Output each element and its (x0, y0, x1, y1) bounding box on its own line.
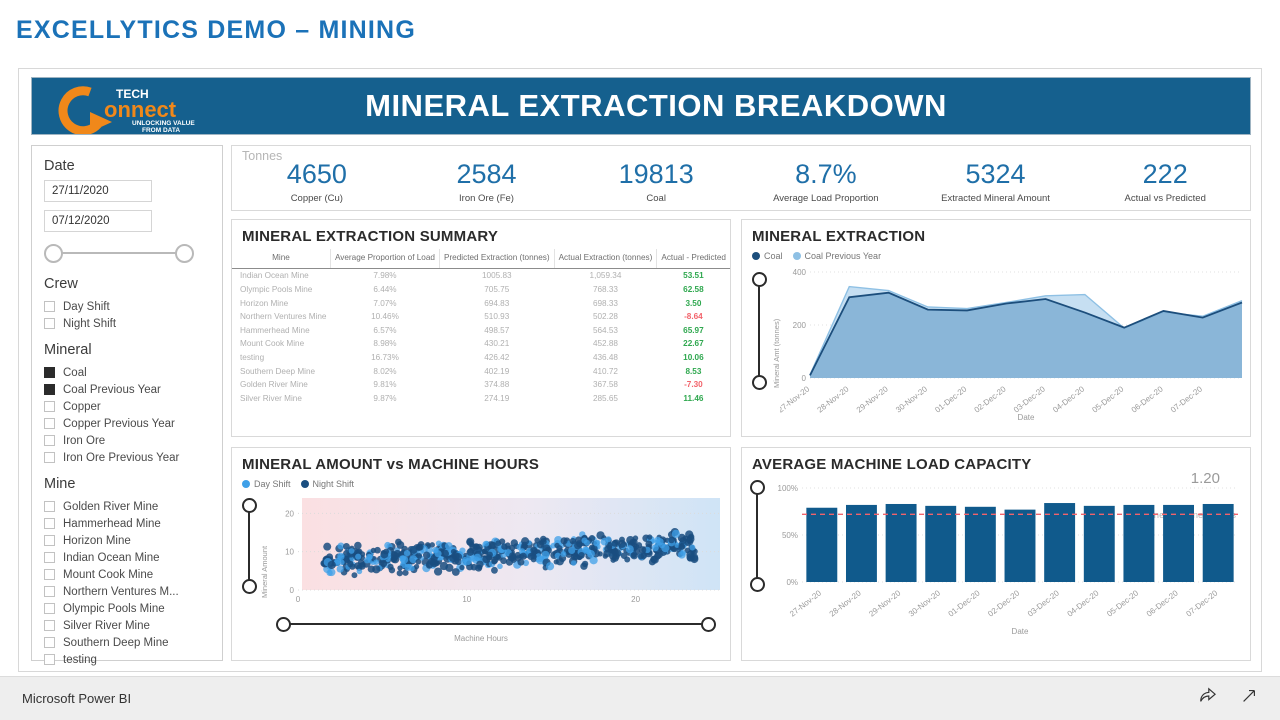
kpi-label: Iron Ore (Fe) (459, 193, 514, 204)
table-row[interactable]: Southern Deep Mine8.02%402.19410.728.53 (232, 364, 730, 378)
table-cell-actual: 1,059.34 (554, 269, 657, 283)
page-title: EXCELLYTICS DEMO – MINING (16, 16, 416, 45)
table-cell-mine: Hammerhead Mine (232, 323, 330, 337)
svg-text:03-Dec-20: 03-Dec-20 (1012, 384, 1047, 414)
mine-filter-checkbox[interactable] (44, 654, 55, 665)
crew-filter-option[interactable]: Day Shift (44, 298, 210, 315)
svg-text:02-Dec-20: 02-Dec-20 (986, 588, 1021, 618)
svg-text:03-Dec-20: 03-Dec-20 (1026, 588, 1061, 618)
kpi-label: Copper (Cu) (291, 193, 343, 204)
mine-filter-checkbox[interactable] (44, 620, 55, 631)
area-chart-plot: 020040027-Nov-2028-Nov-2029-Nov-2030-Nov… (780, 266, 1248, 424)
mineral-filter-label: Iron Ore (63, 435, 105, 447)
svg-text:10: 10 (285, 548, 294, 557)
mine-filter-label: Olympic Pools Mine (63, 603, 165, 615)
area-chart-legend: Coal Coal Previous Year (742, 249, 1250, 261)
table-row[interactable]: Mount Cook Mine8.98%430.21452.8822.67 (232, 337, 730, 351)
table-cell-delta: 11.46 (657, 391, 730, 405)
table-cell-predicted: 498.57 (439, 323, 554, 337)
crew-filter-label: Night Shift (63, 318, 116, 330)
svg-text:20: 20 (631, 595, 640, 604)
kpi-value: 19813 (619, 160, 694, 188)
scatter-horizontal-slider[interactable] (276, 614, 716, 634)
svg-text:0: 0 (290, 586, 295, 595)
mine-filter-checkbox[interactable] (44, 569, 55, 580)
mine-filter-label: Southern Deep Mine (63, 637, 168, 649)
svg-text:0%: 0% (786, 578, 798, 587)
kpi-label: Extracted Mineral Amount (941, 193, 1050, 204)
table-cell-mine: Olympic Pools Mine (232, 283, 330, 297)
scatter-vertical-slider[interactable] (238, 498, 260, 594)
table-cell-delta: -8.64 (657, 310, 730, 324)
summary-table: MineAverage Proportion of LoadPredicted … (232, 249, 730, 405)
report-canvas: TECH onnect UNLOCKING VALUE FROM DATA MI… (18, 68, 1262, 672)
mine-filter-heading: Mine (44, 476, 210, 492)
table-cell-predicted: 426.42 (439, 351, 554, 365)
scatter-vslider-track (248, 507, 250, 585)
area-chart-vertical-slider[interactable] (748, 272, 770, 390)
svg-text:10: 10 (462, 595, 471, 604)
svg-text:01-Dec-20: 01-Dec-20 (947, 588, 982, 618)
summary-column-header[interactable]: Average Proportion of Load (330, 249, 439, 269)
svg-text:200: 200 (793, 321, 807, 330)
svg-text:28-Nov-20: 28-Nov-20 (828, 588, 863, 618)
crew-filter-label: Day Shift (63, 301, 110, 313)
crew-filter-checkbox[interactable] (44, 318, 55, 329)
area-chart-title: MINERAL EXTRACTION (742, 220, 1250, 249)
mine-filter-label: Golden River Mine (63, 501, 158, 513)
table-row[interactable]: Northern Ventures Mine10.46%510.93502.28… (232, 310, 730, 324)
svg-text:30-Nov-20: 30-Nov-20 (907, 588, 942, 618)
table-cell-delta: 53.51 (657, 269, 730, 283)
area-vslider-track (758, 281, 760, 381)
summary-column-header[interactable]: Predicted Extraction (tonnes) (439, 249, 554, 269)
kpi-label: Actual vs Predicted (1125, 193, 1206, 204)
legend-swatch-coal-previous-year (793, 252, 801, 260)
svg-text:0: 0 (296, 595, 301, 604)
table-cell-actual: 367.58 (554, 378, 657, 392)
bar-vslider-track (756, 489, 758, 583)
fullscreen-icon[interactable] (1240, 687, 1258, 710)
mine-filter-option[interactable]: Hammerhead Mine (44, 515, 210, 532)
mine-filter-option[interactable]: Olympic Pools Mine (44, 600, 210, 617)
table-cell-proportion: 7.07% (330, 296, 439, 310)
mine-filter-option[interactable]: Silver River Mine (44, 617, 210, 634)
mine-filter-checkbox[interactable] (44, 586, 55, 597)
mine-filter-option[interactable]: Golden River Mine (44, 498, 210, 515)
summary-column-header[interactable]: Actual - Predicted (657, 249, 730, 269)
svg-text:04-Dec-20: 04-Dec-20 (1051, 384, 1086, 414)
techconnect-logo: TECH onnect UNLOCKING VALUE FROM DATA (32, 78, 212, 134)
mine-filter-option[interactable]: Indian Ocean Mine (44, 549, 210, 566)
mineral-filter-label: Iron Ore Previous Year (63, 452, 179, 464)
date-from-input[interactable]: 27/11/2020 (44, 180, 152, 202)
legend-item-coal[interactable]: Coal (752, 251, 783, 261)
legend-item-coal-previous-year[interactable]: Coal Previous Year (793, 251, 882, 261)
crew-filter-checkbox[interactable] (44, 301, 55, 312)
mine-filter-label: Northern Ventures M... (63, 586, 179, 598)
report-header-title: MINERAL EXTRACTION BREAKDOWN (212, 88, 1250, 124)
bar-vslider-handle-bottom[interactable] (750, 577, 765, 592)
table-cell-actual: 285.65 (554, 391, 657, 405)
legend-swatch-night-shift (301, 480, 309, 488)
bar-chart-vertical-slider[interactable] (746, 480, 768, 592)
avg-machine-load-card: AVERAGE MACHINE LOAD CAPACITY 1.20 Miner… (741, 447, 1251, 661)
table-cell-mine: Southern Deep Mine (232, 364, 330, 378)
kpi-label: Coal (646, 193, 666, 204)
svg-text:28-Nov-20: 28-Nov-20 (816, 384, 851, 414)
svg-text:400: 400 (793, 268, 807, 277)
svg-text:100%: 100% (778, 484, 798, 493)
svg-text:02-Dec-20: 02-Dec-20 (973, 384, 1008, 414)
kpi-value: 8.7% (795, 160, 857, 188)
scatter-xlabel: Machine Hours (232, 634, 730, 643)
table-cell-proportion: 10.46% (330, 310, 439, 324)
legend-label-night-shift: Night Shift (313, 479, 355, 489)
table-row[interactable]: Silver River Mine9.87%274.19285.6511.46 (232, 391, 730, 405)
kpi-card: 222Actual vs Predicted (1080, 146, 1250, 210)
table-row[interactable]: Indian Ocean Mine7.98%1005.831,059.3453.… (232, 269, 730, 283)
table-cell-delta: 8.53 (657, 364, 730, 378)
area-vslider-handle-bottom[interactable] (752, 375, 767, 390)
date-to-input[interactable]: 07/12/2020 (44, 210, 152, 232)
mineral-vs-hours-card: MINERAL AMOUNT vs MACHINE HOURS Day Shif… (231, 447, 731, 661)
svg-text:UNLOCKING VALUE: UNLOCKING VALUE (132, 120, 195, 127)
table-cell-proportion: 8.98% (330, 337, 439, 351)
mineral-filter-checkbox[interactable] (44, 418, 55, 429)
scatter-ylabel: Mineral Amount (260, 546, 269, 598)
table-row[interactable]: testing16.73%426.42436.4810.06 (232, 351, 730, 365)
mine-filter-checkbox[interactable] (44, 501, 55, 512)
table-cell-mine: Golden River Mine (232, 378, 330, 392)
mine-filter-checkbox[interactable] (44, 535, 55, 546)
kpi-card: 2584Iron Ore (Fe) (402, 146, 572, 210)
table-cell-delta: -7.30 (657, 378, 730, 392)
date-slider-track (60, 252, 178, 254)
mineral-filter-option[interactable]: Coal Previous Year (44, 381, 210, 398)
scatter-hslider-handle-left[interactable] (276, 617, 291, 632)
legend-swatch-day-shift (242, 480, 250, 488)
svg-text:Date: Date (1012, 627, 1029, 636)
svg-text:05-Dec-20: 05-Dec-20 (1105, 588, 1140, 618)
mineral-filter-option[interactable]: Copper Previous Year (44, 415, 210, 432)
svg-text:29-Nov-20: 29-Nov-20 (867, 588, 902, 618)
table-cell-mine: testing (232, 351, 330, 365)
table-cell-delta: 22.67 (657, 337, 730, 351)
svg-text:50%: 50% (782, 531, 798, 540)
table-cell-proportion: 16.73% (330, 351, 439, 365)
table-cell-predicted: 402.19 (439, 364, 554, 378)
kpi-value: 222 (1143, 160, 1188, 188)
svg-text:onnect: onnect (104, 97, 177, 122)
mineral-filter-option[interactable]: Coal (44, 364, 210, 381)
mine-filter-label: Horizon Mine (63, 535, 131, 547)
table-row[interactable]: Golden River Mine9.81%374.88367.58-7.30 (232, 378, 730, 392)
table-cell-predicted: 1005.83 (439, 269, 554, 283)
crew-filter-option[interactable]: Night Shift (44, 315, 210, 332)
scatter-hslider-track (284, 623, 708, 625)
kpi-label: Average Load Proportion (773, 193, 878, 204)
legend-item-night-shift[interactable]: Night Shift (301, 479, 355, 489)
mineral-filter-label: Copper Previous Year (63, 418, 175, 430)
mineral-filter-label: Coal (63, 367, 87, 379)
table-cell-delta: 62.58 (657, 283, 730, 297)
mine-filter-label: Hammerhead Mine (63, 518, 161, 530)
table-cell-mine: Silver River Mine (232, 391, 330, 405)
table-cell-delta: 65.97 (657, 323, 730, 337)
table-cell-proportion: 6.57% (330, 323, 439, 337)
bar-chart-title: AVERAGE MACHINE LOAD CAPACITY (742, 448, 1250, 477)
mineral-filter-checkbox[interactable] (44, 384, 55, 395)
kpi-value: 2584 (456, 160, 516, 188)
svg-text:FROM DATA: FROM DATA (142, 127, 180, 134)
svg-text:06-Dec-20: 06-Dec-20 (1145, 588, 1180, 618)
crew-filter-list: Day ShiftNight Shift (44, 298, 210, 332)
table-cell-actual: 768.33 (554, 283, 657, 297)
table-cell-predicted: 510.93 (439, 310, 554, 324)
share-icon[interactable] (1198, 687, 1216, 710)
table-cell-actual: 452.88 (554, 337, 657, 351)
mine-filter-option[interactable]: Mount Cook Mine (44, 566, 210, 583)
table-cell-proportion: 7.98% (330, 269, 439, 283)
status-bar-label: Microsoft Power BI (22, 691, 1198, 706)
crew-filter-heading: Crew (44, 276, 210, 292)
legend-label-day-shift: Day Shift (254, 479, 291, 489)
table-cell-actual: 410.72 (554, 364, 657, 378)
svg-text:27-Nov-20: 27-Nov-20 (788, 588, 823, 618)
svg-text:05-Dec-20: 05-Dec-20 (1090, 384, 1125, 414)
mineral-filter-label: Copper (63, 401, 101, 413)
mineral-filter-checkbox[interactable] (44, 435, 55, 446)
kpi-card: 5324Extracted Mineral Amount (911, 146, 1081, 210)
mine-filter-list: Golden River MineHammerhead MineHorizon … (44, 498, 210, 668)
legend-label-coal-previous-year: Coal Previous Year (805, 251, 882, 261)
kpi-strip: Tonnes 4650Copper (Cu)2584Iron Ore (Fe)1… (231, 145, 1251, 211)
mineral-filter-option[interactable]: Iron Ore Previous Year (44, 449, 210, 466)
summary-title: MINERAL EXTRACTION SUMMARY (232, 220, 730, 249)
summary-column-header[interactable]: Mine (232, 249, 330, 269)
mineral-extraction-chart-card: MINERAL EXTRACTION Coal Coal Previous Ye… (741, 219, 1251, 437)
table-row[interactable]: Olympic Pools Mine6.44%705.75768.3362.58 (232, 283, 730, 297)
summary-table-header-row: MineAverage Proportion of LoadPredicted … (232, 249, 730, 269)
mineral-filter-checkbox[interactable] (44, 367, 55, 378)
kpi-value: 5324 (965, 160, 1025, 188)
scatter-title: MINERAL AMOUNT vs MACHINE HOURS (232, 448, 730, 477)
svg-text:01-Dec-20: 01-Dec-20 (933, 384, 968, 414)
table-cell-actual: 436.48 (554, 351, 657, 365)
mine-filter-option[interactable]: Southern Deep Mine (44, 634, 210, 651)
mine-filter-option[interactable]: Horizon Mine (44, 532, 210, 549)
svg-text:04-Dec-20: 04-Dec-20 (1066, 588, 1101, 618)
table-cell-predicted: 705.75 (439, 283, 554, 297)
table-cell-mine: Mount Cook Mine (232, 337, 330, 351)
mine-filter-checkbox[interactable] (44, 603, 55, 614)
mineral-filter-checkbox[interactable] (44, 401, 55, 412)
mineral-filter-heading: Mineral (44, 342, 210, 358)
mineral-filter-option[interactable]: Iron Ore (44, 432, 210, 449)
date-slider-handle-right[interactable] (175, 244, 194, 263)
mine-filter-label: Silver River Mine (63, 620, 150, 632)
table-cell-proportion: 9.87% (330, 391, 439, 405)
scatter-legend: Day Shift Night Shift (232, 477, 730, 489)
kpi-card: 19813Coal (571, 146, 741, 210)
bar-chart-plot: 0%50%100%27-Nov-2028-Nov-2029-Nov-2030-N… (768, 478, 1246, 638)
scatter-hslider-handle-right[interactable] (701, 617, 716, 632)
kpi-value: 4650 (287, 160, 347, 188)
date-range-slider[interactable] (44, 240, 194, 266)
table-cell-predicted: 274.19 (439, 391, 554, 405)
mine-filter-label: testing (63, 654, 97, 666)
table-cell-actual: 564.53 (554, 323, 657, 337)
scatter-vslider-handle-bottom[interactable] (242, 579, 257, 594)
summary-column-header[interactable]: Actual Extraction (tonnes) (554, 249, 657, 269)
kpi-card: 8.7%Average Load Proportion (741, 146, 911, 210)
table-cell-mine: Northern Ventures Mine (232, 310, 330, 324)
table-cell-proportion: 6.44% (330, 283, 439, 297)
area-vslider-handle-top[interactable] (752, 272, 767, 287)
svg-text:20: 20 (285, 509, 294, 518)
legend-swatch-coal (752, 252, 760, 260)
scatter-vslider-handle-top[interactable] (242, 498, 257, 513)
summary-table-body: Indian Ocean Mine7.98%1005.831,059.3453.… (232, 269, 730, 405)
table-cell-mine: Indian Ocean Mine (232, 269, 330, 283)
svg-text:30-Nov-20: 30-Nov-20 (894, 384, 929, 414)
table-cell-delta: 10.06 (657, 351, 730, 365)
table-cell-predicted: 374.88 (439, 378, 554, 392)
svg-text:Date: Date (1018, 413, 1035, 422)
mine-filter-checkbox[interactable] (44, 637, 55, 648)
svg-text:06-Dec-20: 06-Dec-20 (1130, 384, 1165, 414)
table-cell-actual: 698.33 (554, 296, 657, 310)
report-header: TECH onnect UNLOCKING VALUE FROM DATA MI… (31, 77, 1251, 135)
date-slider-handle-left[interactable] (44, 244, 63, 263)
status-bar-actions (1198, 687, 1258, 710)
svg-text:07-Dec-20: 07-Dec-20 (1169, 384, 1204, 414)
table-cell-actual: 502.28 (554, 310, 657, 324)
legend-item-day-shift[interactable]: Day Shift (242, 479, 291, 489)
bar-vslider-handle-top[interactable] (750, 480, 765, 495)
filter-panel: Date 27/11/2020 07/12/2020 Crew Day Shif… (31, 145, 223, 661)
mine-filter-label: Indian Ocean Mine (63, 552, 160, 564)
mine-filter-option[interactable]: Northern Ventures M... (44, 583, 210, 600)
mine-filter-option[interactable]: testing (44, 651, 210, 668)
table-cell-delta: 3.50 (657, 296, 730, 310)
kpi-list: 4650Copper (Cu)2584Iron Ore (Fe)19813Coa… (232, 146, 1250, 210)
kpi-unit-label: Tonnes (242, 149, 282, 163)
table-cell-predicted: 694.83 (439, 296, 554, 310)
scatter-plot: 0102001020 (272, 494, 724, 610)
status-bar: Microsoft Power BI (0, 676, 1280, 720)
legend-label-coal: Coal (764, 251, 783, 261)
table-cell-proportion: 9.81% (330, 378, 439, 392)
mineral-filter-list: CoalCoal Previous YearCopperCopper Previ… (44, 364, 210, 466)
svg-text:0: 0 (802, 374, 807, 383)
mineral-extraction-summary-card: MINERAL EXTRACTION SUMMARY MineAverage P… (231, 219, 731, 437)
mineral-filter-option[interactable]: Copper (44, 398, 210, 415)
mine-filter-checkbox[interactable] (44, 518, 55, 529)
table-cell-proportion: 8.02% (330, 364, 439, 378)
svg-text:29-Nov-20: 29-Nov-20 (855, 384, 890, 414)
mineral-filter-checkbox[interactable] (44, 452, 55, 463)
table-cell-predicted: 430.21 (439, 337, 554, 351)
table-row[interactable]: Horizon Mine7.07%694.83698.333.50 (232, 296, 730, 310)
mine-filter-checkbox[interactable] (44, 552, 55, 563)
mine-filter-label: Mount Cook Mine (63, 569, 153, 581)
svg-text:27-Nov-20: 27-Nov-20 (780, 384, 812, 414)
table-cell-mine: Horizon Mine (232, 296, 330, 310)
table-row[interactable]: Hammerhead Mine6.57%498.57564.5365.97 (232, 323, 730, 337)
date-filter-heading: Date (44, 158, 210, 174)
mineral-filter-label: Coal Previous Year (63, 384, 161, 396)
svg-text:07-Dec-20: 07-Dec-20 (1184, 588, 1219, 618)
